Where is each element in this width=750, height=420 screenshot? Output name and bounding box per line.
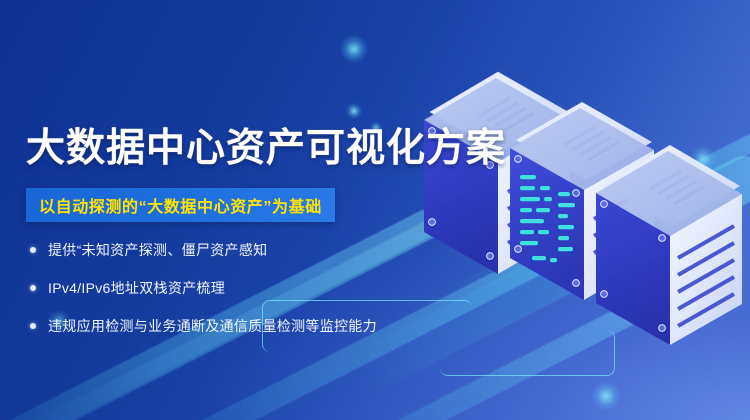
bullet-dot-icon [30,247,36,253]
list-item-label: 违规应用检测与业务通断及通信质量检测等监控能力 [48,316,377,336]
list-item: 违规应用检测与业务通断及通信质量检测等监控能力 [26,316,446,336]
bullet-dot-icon [30,285,36,291]
text-content: 大数据中心资产可视化方案 以自动探测的“大数据中心资产”为基础 提供“未知资产探… [0,0,460,420]
page-title: 大数据中心资产可视化方案 [26,126,506,172]
banner-root: 大数据中心资产可视化方案 以自动探测的“大数据中心资产”为基础 提供“未知资产探… [0,0,750,420]
list-item: IPv4/IPv6地址双栈资产梳理 [26,278,446,298]
server-illustration [420,0,750,420]
subtitle-badge: 以自动探测的“大数据中心资产”为基础 [26,188,335,222]
list-item-label: 提供“未知资产探测、僵尸资产感知 [48,240,267,260]
feature-list: 提供“未知资产探测、僵尸资产感知 IPv4/IPv6地址双栈资产梳理 违规应用检… [26,240,446,354]
list-item: 提供“未知资产探测、僵尸资产感知 [26,240,446,260]
list-item-label: IPv4/IPv6地址双栈资产梳理 [48,278,225,298]
bullet-dot-icon [30,323,36,329]
